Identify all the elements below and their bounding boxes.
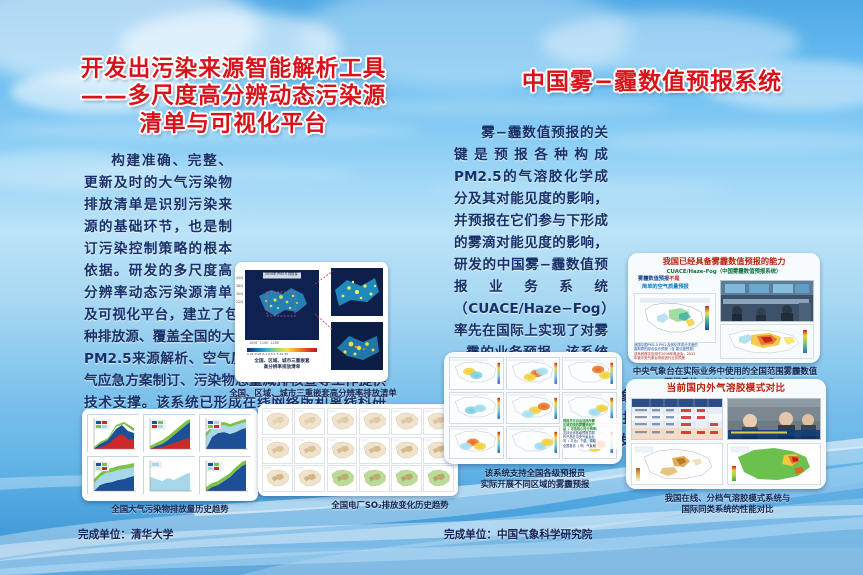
haze-forecast-map-cell	[506, 392, 561, 425]
so2-map-cell	[359, 465, 390, 492]
so2-map-cell	[327, 408, 358, 435]
haze-forecast-map-cell	[449, 426, 504, 459]
model-comparison-table	[631, 398, 723, 440]
emission-map-inner-caption: 全国、区域、城市三重嵌套 高分辨率排放清单	[241, 359, 323, 370]
aerosol-panel-headline: 当前国内外气溶胶模式对比	[626, 383, 826, 395]
left-poster-title: 开发出污染来源智能解析工具 ——多尺度高分辨动态污染源 清单与可视化平台	[36, 56, 431, 138]
aerosol-model-comparison-panel-caption: 我国在线、分档气溶胶模式系统与 国际同类系统的性能对比	[630, 493, 825, 516]
right-poster-title: 中国雾−霾数值预报系统	[452, 68, 852, 96]
power-plant-so2-panel[interactable]	[258, 404, 458, 496]
forecaster-support-note: 预报员可自由选择所需 区域范围的雾霾预报产 品（ 可选取小时分辨率） 支持全省各…	[562, 418, 620, 449]
so2-map-cell	[294, 408, 325, 435]
tv-broadcast-photo	[727, 398, 821, 440]
domestic-model-map	[631, 443, 723, 485]
haze-forecast-map-cell	[506, 357, 561, 390]
history-trend-panel-caption: 全国大气污染物排放量历史趋势	[80, 504, 260, 515]
so2-map-cell	[294, 465, 325, 492]
aerosol-model-comparison-panel[interactable]: 当前国内外气溶胶模式对比	[626, 379, 826, 489]
left-title-line-2: ——多尺度高分辨动态污染源	[36, 83, 431, 110]
so2-map-cell	[359, 408, 390, 435]
cuace-panel-footnote: 我国中国PM2.5 PM1 及其化学成分浓度的 霾和雾的综合会诊预报（含 能见度…	[634, 343, 718, 361]
so2-map-cell	[262, 465, 293, 492]
left-unit-label: 完成单位：清华大学	[78, 527, 173, 542]
so2-map-cell	[262, 408, 293, 435]
forecast-operations-photo	[720, 280, 814, 322]
cuace-panel-headline: 我国已经具备雾霾数值预报的能力	[628, 256, 820, 266]
so2-map-cell	[294, 437, 325, 464]
so2-map-cell	[391, 408, 422, 435]
haze-forecast-map-cell	[562, 357, 617, 390]
cuace-tag-line-2: 简单的空气质量预报	[642, 284, 689, 290]
right-unit-label: 完成单位：中国气象科学研究院	[444, 527, 592, 542]
so2-map-cell	[327, 437, 358, 464]
international-model-map	[727, 443, 821, 485]
emission-map-panel[interactable]: 2010年 PM2.5 排放量 45N38N30N22N 100E 110E 1…	[235, 262, 388, 382]
forecaster-support-panel[interactable]: 预报员可自由选择所需 区域范围的雾霾预报产 品（ 可选取小时分辨率） 支持全省各…	[444, 352, 622, 464]
cuace-capability-panel[interactable]: 我国已经具备雾霾数值预报的能力 CUACE/Haze-Fog（中国雾霾数值预报系…	[628, 253, 820, 363]
power-plant-so2-panel-caption: 全国电厂SO₂排放变化历史趋势	[300, 500, 480, 511]
history-trend-panel[interactable]	[82, 409, 258, 501]
cuace-panel-subhead: CUACE/Haze-Fog（中国雾霾数值预报系统）	[628, 267, 820, 275]
so2-map-cell	[391, 437, 422, 464]
poster-canvas: 开发出污染来源智能解析工具 ——多尺度高分辨动态污染源 清单与可视化平台 中国雾…	[0, 0, 863, 575]
so2-map-cell	[262, 437, 293, 464]
haze-forecast-map-cell	[449, 392, 504, 425]
so2-map-cell	[391, 465, 422, 492]
cuace-pm25-forecast-map	[720, 324, 814, 359]
haze-forecast-map-cell	[506, 426, 561, 459]
forecaster-support-panel-caption: 该系统支持全国各级预报员 实际开展不同区域的雾霾预报	[440, 468, 630, 491]
haze-forecast-map-cell	[449, 357, 504, 390]
cuace-tag-accent: 不是	[669, 276, 679, 282]
left-title-line-3: 清单与可视化平台	[36, 111, 431, 138]
cuace-china-haze-map	[634, 293, 716, 343]
cuace-tag-line-1: 雾霾数值预报	[638, 276, 669, 282]
so2-map-cell	[327, 465, 358, 492]
emission-map-panel-caption: 全国、区域、城市三重嵌套高分辨率排放清单	[228, 388, 398, 399]
left-title-line-1: 开发出污染来源智能解析工具	[36, 56, 431, 83]
so2-map-cell	[359, 437, 390, 464]
